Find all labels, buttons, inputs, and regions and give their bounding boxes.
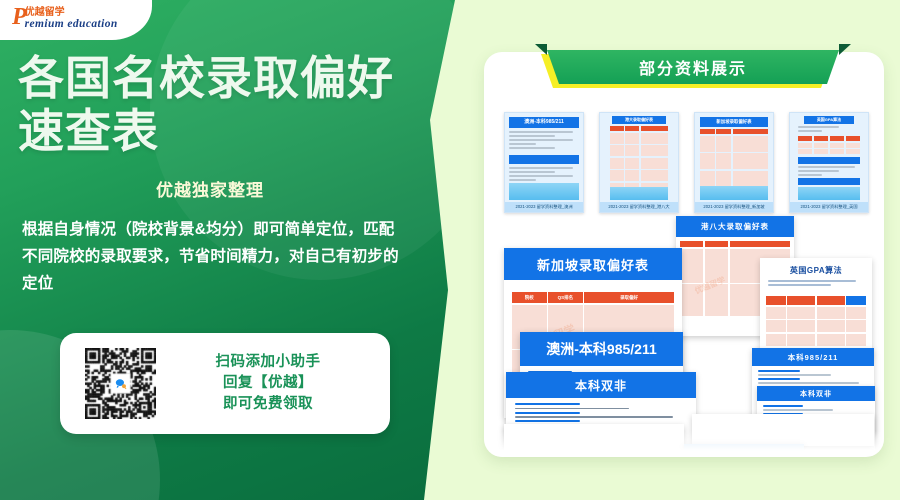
logo-english-name: remium education: [25, 18, 118, 30]
thumbnail-doc-2[interactable]: 港大录取偏好表 2021-2023 留学资料整理_港八大: [599, 112, 679, 213]
overlay-qr-strip[interactable]: [684, 444, 804, 457]
thumbnail-doc-1[interactable]: 澳洲-本科985/211 2021-2023 留学资料整理_澳洲: [504, 112, 584, 213]
headline-line-1: 各国名校录取偏好: [18, 52, 438, 105]
qr-cta-line-1: 扫码添加小助手: [156, 352, 380, 373]
thumbnail-doc-3[interactable]: 新加坡录取偏好表 2021-2023 留学资料整理_新加坡: [694, 112, 774, 213]
brand-logo: P 优越留学 remium education: [12, 7, 118, 30]
overlay-card-australia-title: 澳洲-本科985/211: [520, 332, 683, 366]
ribbon-notch-left: [535, 44, 547, 55]
thumbnail-doc-2-title: 港大录取偏好表: [612, 116, 666, 124]
table-header-rank: QS排名: [548, 292, 583, 303]
table-header-pref: 录取偏好: [584, 292, 674, 303]
overlay-card-shuangfei-small-title: 本科双非: [757, 386, 875, 401]
overlay-card-hk8-title: 港八大录取偏好表: [676, 216, 794, 237]
subtitle: 优越独家整理: [0, 176, 420, 201]
showcase-card: 澳洲-本科985/211 2021-2023 留学资料整理_澳洲 港大录取偏好表: [484, 52, 884, 457]
qr-cta-line-3: 即可免费领取: [156, 394, 380, 415]
overlay-world-map-right[interactable]: [692, 414, 874, 446]
thumbnail-doc-2-caption: 2021-2023 留学资料整理_港八大: [600, 202, 678, 212]
thumbnail-doc-1-caption: 2021-2023 留学资料整理_澳洲: [505, 202, 583, 212]
logo-chinese-name: 优越留学: [25, 7, 118, 18]
page-title: 各国名校录取偏好 速查表: [18, 52, 438, 158]
headline-line-2: 速查表: [18, 105, 438, 158]
thumbnail-doc-1-subtitle: [509, 155, 579, 164]
ribbon-label: 部分资料展示: [639, 55, 747, 79]
qr-cta-text: 扫码添加小助手 回复【优越】 即可免费领取: [156, 352, 390, 415]
wechat-glyph: [114, 377, 127, 390]
thumbnail-doc-4-caption: 2021-2023 留学资料整理_英国: [790, 202, 868, 212]
thumbnail-doc-1-title: 澳洲-本科985/211: [509, 117, 579, 128]
overlay-card-shuangfei-title: 本科双非: [506, 372, 696, 398]
overlay-world-map-left[interactable]: [504, 424, 684, 457]
table-header-school: 院校: [512, 292, 547, 303]
thumbnail-doc-3-caption: 2021-2023 留学资料整理_新加坡: [695, 202, 773, 212]
qr-cta-card[interactable]: 扫码添加小助手 回复【优越】 即可免费领取: [60, 333, 390, 434]
hero-description: 根据自身情况（院校背景&均分）即可简单定位，匹配不同院校的录取要求，节省时间精力…: [22, 216, 408, 297]
overlay-card-uk-gpa[interactable]: 英国GPA算法: [760, 258, 872, 358]
qr-code[interactable]: [85, 348, 156, 419]
ribbon-notch-right: [839, 44, 851, 55]
thumbnail-doc-3-map: [700, 186, 768, 200]
thumbnail-doc-3-title: 新加坡录取偏好表: [700, 117, 768, 127]
overlay-card-985211-title: 本科985/211: [752, 348, 874, 366]
overlay-card-singapore-title: 新加坡录取偏好表: [504, 248, 682, 280]
thumbnail-doc-4-section: [798, 157, 860, 164]
qr-cta-line-2: 回复【优越】: [156, 373, 380, 394]
document-thumbnail-area: 澳洲-本科985/211 2021-2023 留学资料整理_澳洲 港大录取偏好表: [484, 98, 884, 457]
ribbon-body: 部分资料展示: [547, 50, 839, 84]
thumbnail-doc-4-map: [798, 187, 860, 200]
overlay-card-uk-gpa-title: 英国GPA算法: [760, 258, 872, 276]
wechat-icon: [112, 375, 129, 392]
logo-p-glyph: P: [12, 7, 26, 27]
thumbnail-doc-4-section-2: [798, 178, 860, 185]
showcase-ribbon: 部分资料展示: [484, 44, 884, 90]
thumbnail-doc-4-title: 英国GPA算法: [804, 116, 854, 124]
thumbnail-doc-4[interactable]: 英国GPA算法 2021-2023 留学资料整理_英国: [789, 112, 869, 213]
thumbnail-doc-2-map: [610, 187, 668, 200]
thumbnail-doc-1-map: [509, 183, 579, 200]
